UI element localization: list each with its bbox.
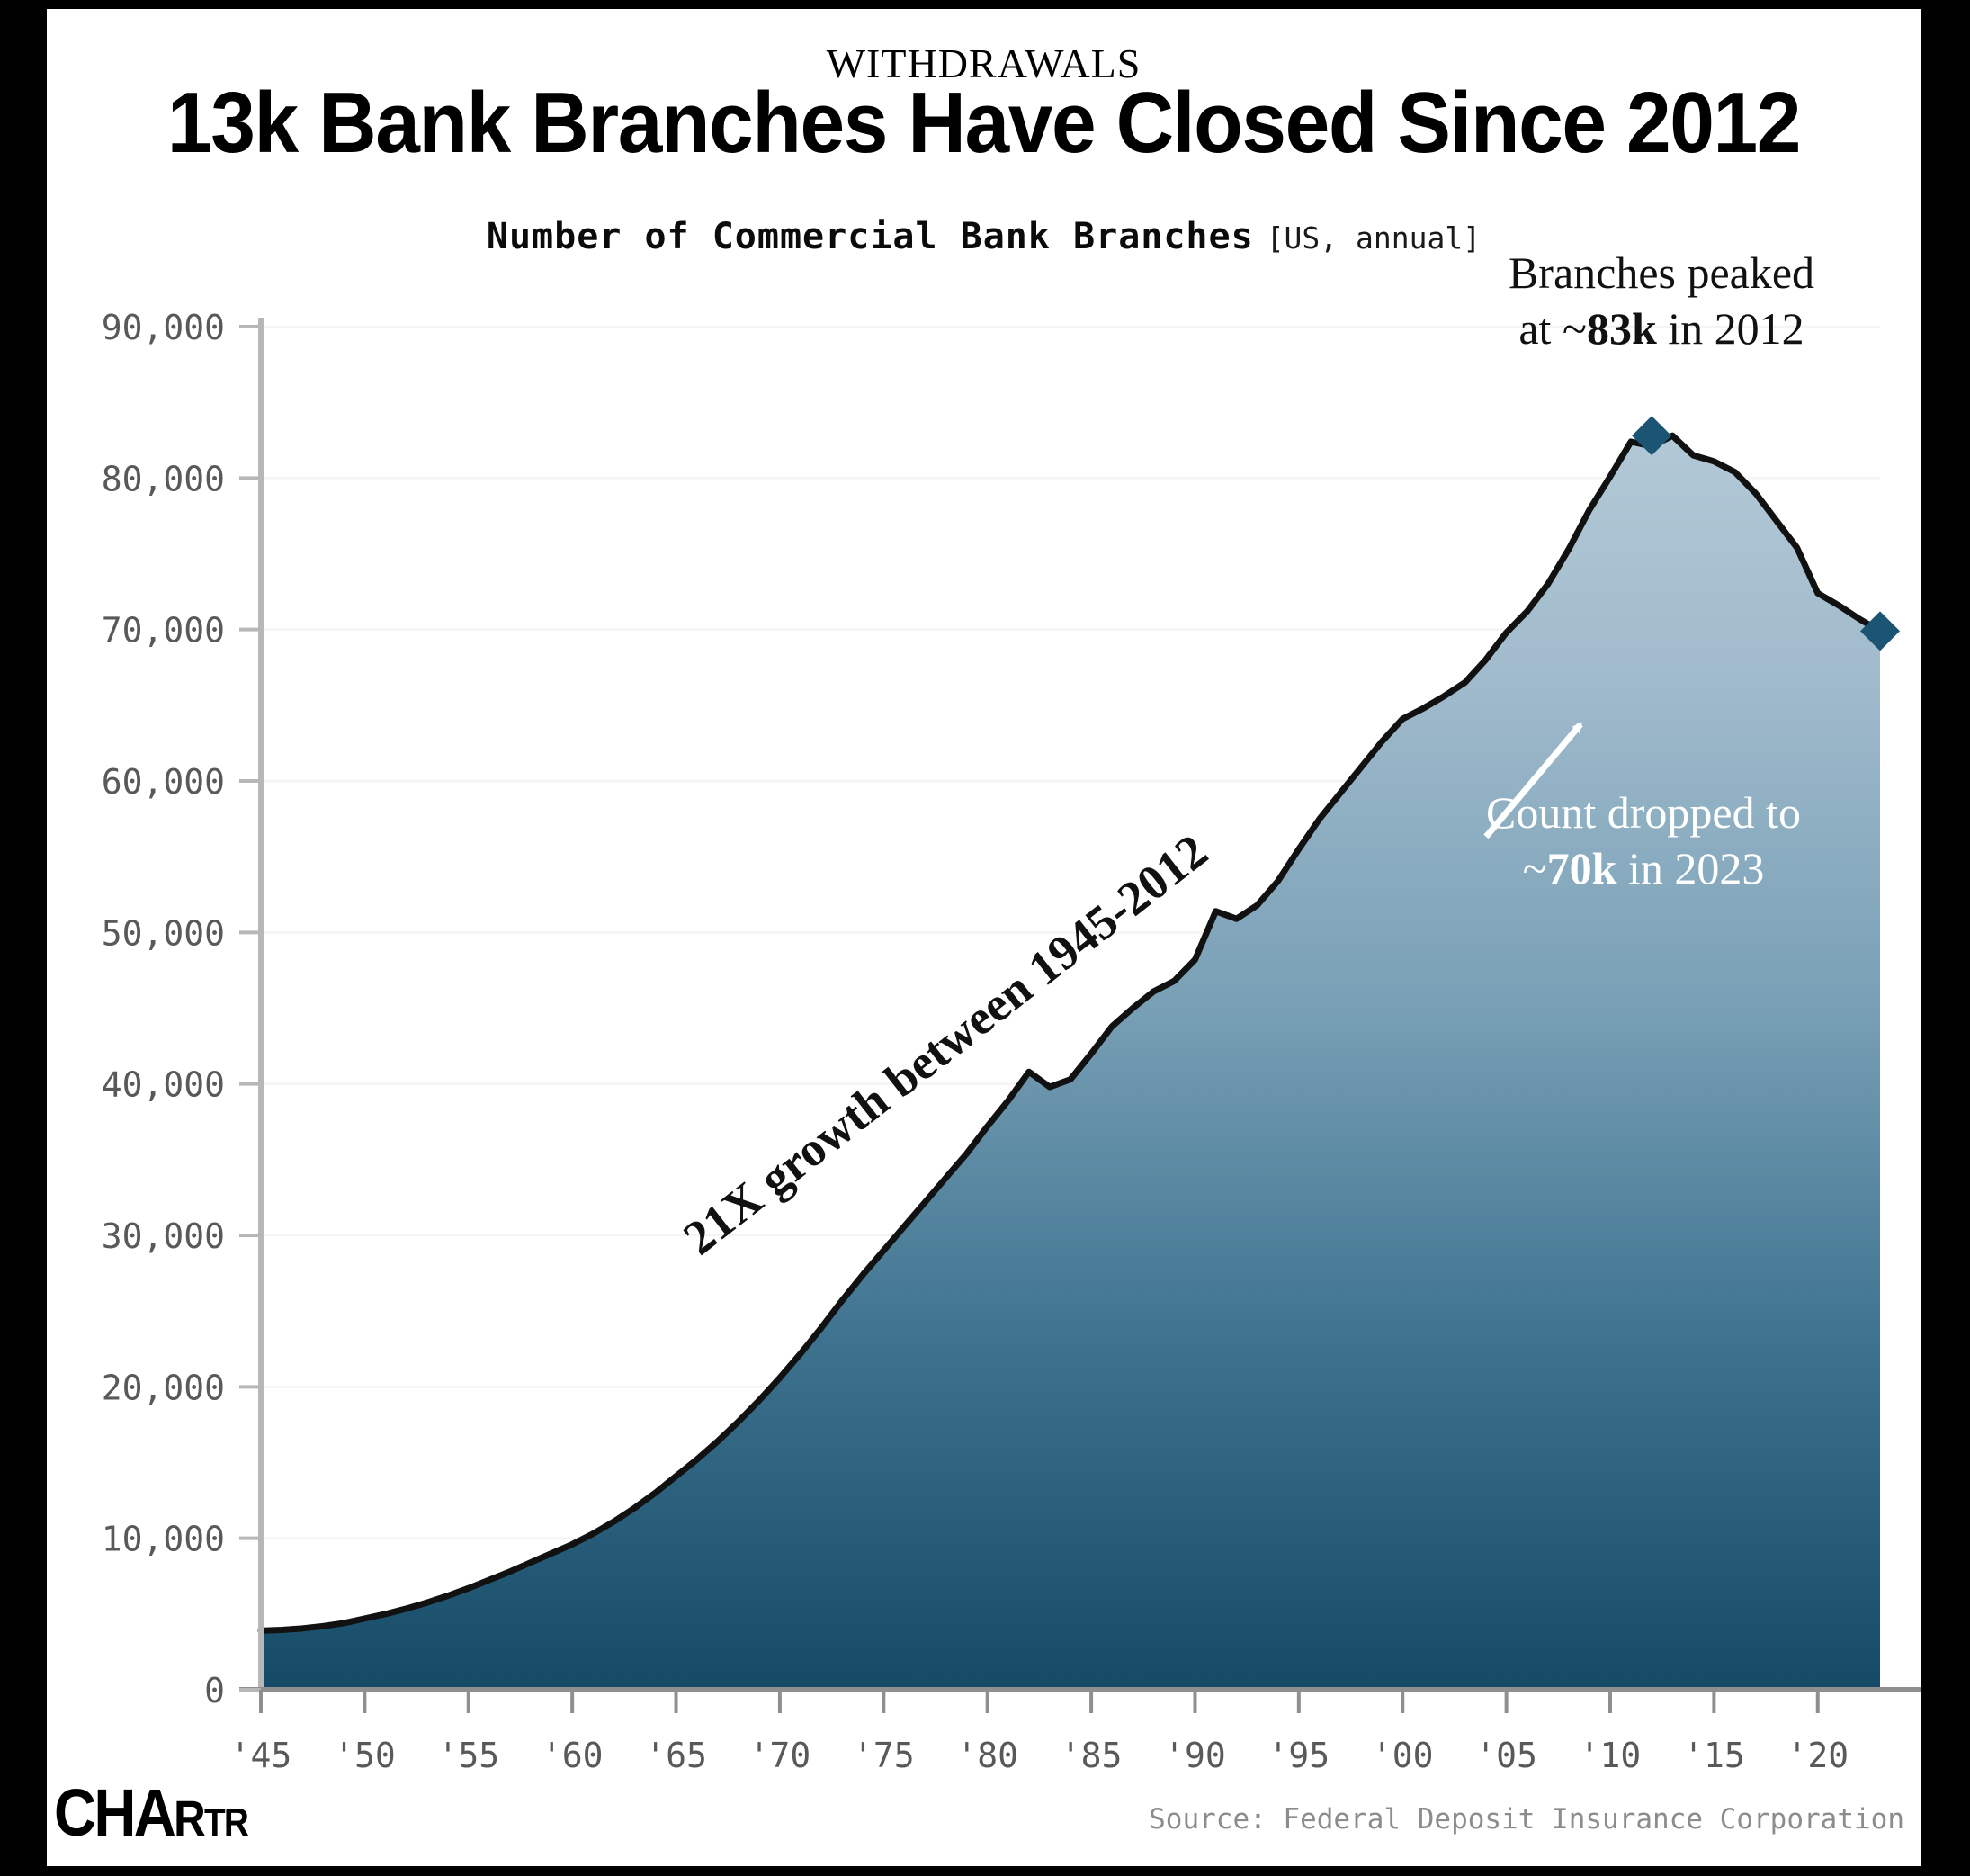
chart-page: WITHDRAWALS 13k Bank Branches Have Close…	[0, 0, 1970, 1876]
y-tick-label: 40,000	[102, 1065, 225, 1105]
footer: CHARTR Source: Federal Deposit Insurance…	[47, 1787, 1921, 1850]
peak-annotation-line1: Branches peaked	[1509, 247, 1814, 298]
y-axis-ticks	[239, 327, 261, 1690]
x-tick-label: '15	[1683, 1736, 1745, 1775]
y-tick-label: 60,000	[102, 762, 225, 802]
chart-card: WITHDRAWALS 13k Bank Branches Have Close…	[47, 9, 1921, 1866]
x-tick-label: '20	[1786, 1736, 1849, 1775]
y-tick-label: 70,000	[102, 611, 225, 651]
source-label: Source: Federal Deposit Insurance Corpor…	[1149, 1803, 1904, 1836]
x-tick-label: '65	[645, 1736, 707, 1775]
x-tick-label: '50	[334, 1736, 396, 1775]
x-tick-label: '75	[853, 1736, 915, 1775]
x-tick-label: '00	[1372, 1736, 1434, 1775]
drop-annotation-line1: Count dropped to	[1486, 787, 1801, 838]
peak-annotation: Branches peaked at ~83k in 2012	[1509, 247, 1814, 354]
peak-annotation-line2: at ~83k in 2012	[1518, 303, 1804, 354]
drop-annotation-line2: ~70k in 2023	[1523, 843, 1765, 893]
x-tick-label: '45	[230, 1736, 292, 1775]
y-tick-label: 20,000	[102, 1368, 225, 1407]
y-tick-label: 80,000	[102, 459, 225, 498]
area-chart-svg: 90,00080,00070,00060,00050,00040,00030,0…	[47, 9, 1921, 1866]
x-tick-label: '80	[956, 1736, 1018, 1775]
x-tick-label: '95	[1268, 1736, 1330, 1775]
chartr-logo: CHARTR	[54, 1780, 247, 1846]
y-tick-label: 50,000	[102, 913, 225, 953]
area-fill	[261, 435, 1880, 1690]
x-tick-label: '55	[437, 1736, 499, 1775]
y-tick-label: 90,000	[102, 308, 225, 347]
y-tick-label: 10,000	[102, 1520, 225, 1559]
logo-part-2: R	[174, 1790, 204, 1846]
x-tick-label: '85	[1061, 1736, 1123, 1775]
plot-area: 90,00080,00070,00060,00050,00040,00030,0…	[47, 9, 1921, 1866]
x-tick-label: '70	[749, 1736, 811, 1775]
y-tick-label: 30,000	[102, 1216, 225, 1256]
logo-part-3: TR	[204, 1800, 247, 1845]
y-tick-label: 0	[204, 1671, 225, 1710]
x-tick-label: '60	[542, 1736, 604, 1775]
x-tick-label: '10	[1580, 1736, 1642, 1775]
y-axis-labels: 90,00080,00070,00060,00050,00040,00030,0…	[102, 308, 225, 1710]
x-axis-labels: '45'50'55'60'65'70'75'80'85'90'95'00'05'…	[230, 1736, 1849, 1775]
x-tick-label: '05	[1475, 1736, 1537, 1775]
logo-part-1: CHA	[54, 1775, 174, 1850]
x-axis-ticks	[261, 1690, 1818, 1713]
x-tick-label: '90	[1164, 1736, 1226, 1775]
